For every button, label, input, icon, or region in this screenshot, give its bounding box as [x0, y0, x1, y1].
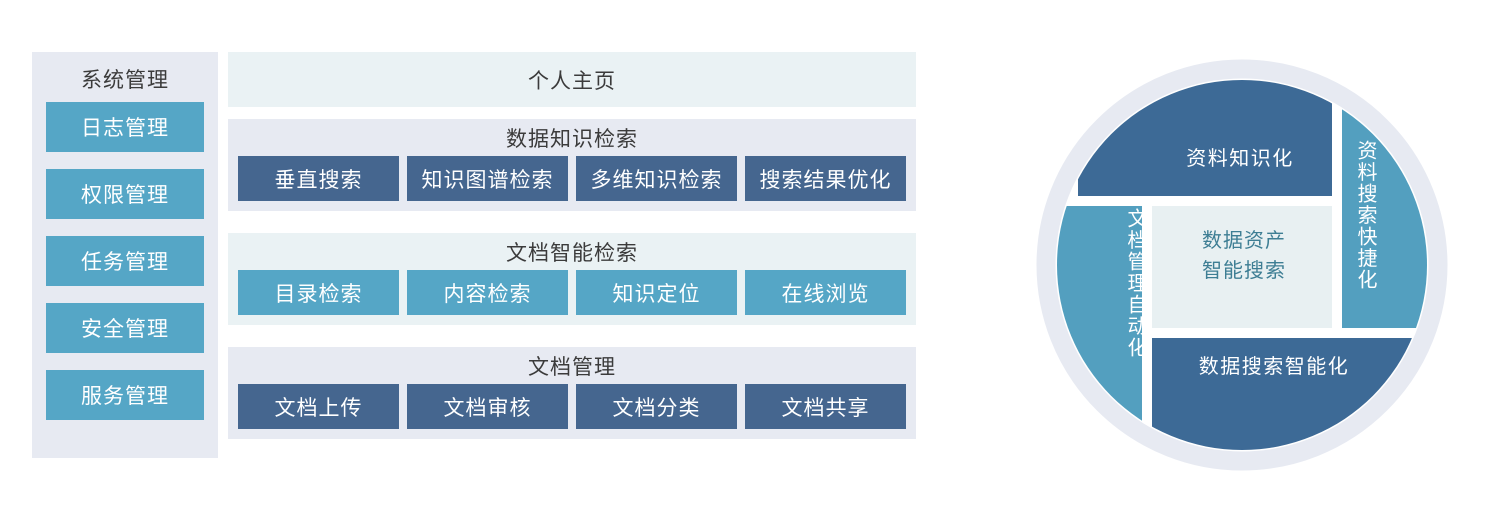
section-data-knowledge-retrieval: 数据知识检索 垂直搜索 知识图谱检索 多维知识检索 搜索结果优化: [228, 119, 916, 211]
chip-knowledge-graph-retrieval[interactable]: 知识图谱检索: [407, 156, 568, 201]
section-personal-homepage[interactable]: 个人主页: [228, 52, 916, 107]
section-title-data-knowledge-retrieval: 数据知识检索: [228, 124, 916, 156]
chip-document-review[interactable]: 文档审核: [407, 384, 568, 429]
chip-multidimensional-knowledge-retrieval[interactable]: 多维知识检索: [576, 156, 737, 201]
chip-search-result-optimization[interactable]: 搜索结果优化: [745, 156, 906, 201]
page-title: 系统管理: [46, 62, 204, 102]
chip-document-classification[interactable]: 文档分类: [576, 384, 737, 429]
section-document-smart-retrieval: 文档智能检索 目录检索 内容检索 知识定位 在线浏览: [228, 233, 916, 325]
section-document-management: 文档管理 文档上传 文档审核 文档分类 文档共享: [228, 347, 916, 439]
chip-catalog-retrieval[interactable]: 目录检索: [238, 270, 399, 315]
center-box: [1152, 206, 1332, 328]
chip-content-retrieval[interactable]: 内容检索: [407, 270, 568, 315]
circular-diagram: 资料知识化 资料搜索快捷化 数据搜索智能化 文档管理自动化 数据资产 智能搜索: [1020, 40, 1464, 490]
chip-vertical-search[interactable]: 垂直搜索: [238, 156, 399, 201]
sidebar-item-task-management[interactable]: 任务管理: [46, 236, 204, 286]
chip-document-upload[interactable]: 文档上传: [238, 384, 399, 429]
chip-row-document-management: 文档上传 文档审核 文档分类 文档共享: [228, 384, 916, 439]
section-title-document-management: 文档管理: [228, 352, 916, 384]
chip-row-document-smart-retrieval: 目录检索 内容检索 知识定位 在线浏览: [228, 270, 916, 325]
sidebar-item-service-management[interactable]: 服务管理: [46, 370, 204, 420]
sidebar-item-permission-management[interactable]: 权限管理: [46, 169, 204, 219]
chip-row-data-knowledge-retrieval: 垂直搜索 知识图谱检索 多维知识检索 搜索结果优化: [228, 156, 916, 211]
chip-knowledge-locating[interactable]: 知识定位: [576, 270, 737, 315]
chip-document-sharing[interactable]: 文档共享: [745, 384, 906, 429]
segment-top-shape: [1078, 74, 1332, 196]
sidebar-item-security-management[interactable]: 安全管理: [46, 303, 204, 353]
chip-online-browsing[interactable]: 在线浏览: [745, 270, 906, 315]
system-management-panel: 系统管理 日志管理 权限管理 任务管理 安全管理 服务管理: [32, 52, 218, 458]
section-title-personal-homepage: 个人主页: [528, 65, 616, 95]
sidebar-item-log-management[interactable]: 日志管理: [46, 102, 204, 152]
section-title-document-smart-retrieval: 文档智能检索: [228, 238, 916, 270]
